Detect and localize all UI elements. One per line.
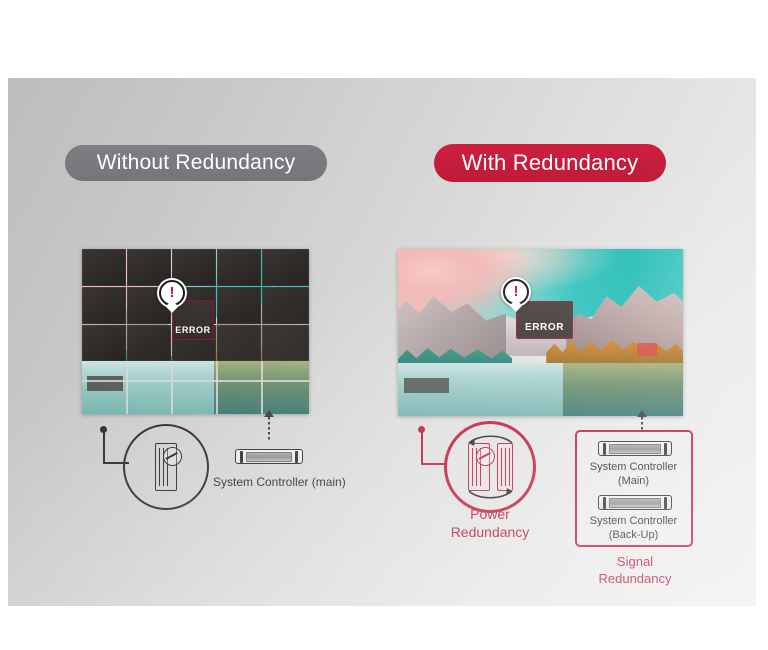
left-leader-vertical xyxy=(103,430,105,462)
left-signal-dotted-line xyxy=(268,417,270,441)
right-error-label: ERROR xyxy=(525,322,564,333)
controller-main-bar xyxy=(598,441,672,456)
left-power-circle xyxy=(123,424,209,510)
right-error-box: ERROR xyxy=(516,301,573,339)
comparison-panel: Without Redundancy With Redundancy xyxy=(8,78,756,606)
redundancy-cycle-arrows-icon xyxy=(457,431,523,503)
left-error-label: ERROR xyxy=(175,325,211,335)
signal-redundancy-caption: Signal Redundancy xyxy=(578,554,692,588)
controller-backup-bar xyxy=(598,495,672,510)
power-redundancy-line2: Redundancy xyxy=(432,523,548,541)
single-power-supply-icon xyxy=(155,443,177,491)
controller-main-label: System Controller (Main) xyxy=(577,461,690,489)
right-power-circle xyxy=(444,421,536,513)
heading-with-redundancy-label: With Redundancy xyxy=(462,150,639,176)
heading-without-redundancy-label: Without Redundancy xyxy=(97,151,296,175)
heading-without-redundancy: Without Redundancy xyxy=(65,145,327,181)
right-leader-vertical xyxy=(421,430,423,463)
screenshot-root: Without Redundancy With Redundancy xyxy=(0,0,768,650)
heading-with-redundancy: With Redundancy xyxy=(434,144,666,182)
power-redundancy-caption: Power Redundancy xyxy=(432,505,548,541)
controller-backup-label-line2: (Back-Up) xyxy=(577,529,690,543)
controller-main-label-line1: System Controller xyxy=(577,461,690,475)
signal-redundancy-box: System Controller (Main) System Controll… xyxy=(575,430,693,547)
signal-redundancy-line2: Redundancy xyxy=(578,571,692,588)
power-redundancy-line1: Power xyxy=(432,505,548,523)
dual-power-supply-icon xyxy=(459,436,521,498)
left-controller-bar xyxy=(235,449,303,464)
controller-main-label-line2: (Main) xyxy=(577,475,690,489)
left-controller-label: System Controller (main) xyxy=(213,475,325,490)
signal-redundancy-line1: Signal xyxy=(578,554,692,571)
right-signal-dotted-line xyxy=(641,417,643,431)
controller-backup-label: System Controller (Back-Up) xyxy=(577,515,690,543)
controller-backup-label-line1: System Controller xyxy=(577,515,690,529)
left-signal-arrowhead xyxy=(264,410,274,417)
right-signal-arrowhead xyxy=(637,410,647,417)
